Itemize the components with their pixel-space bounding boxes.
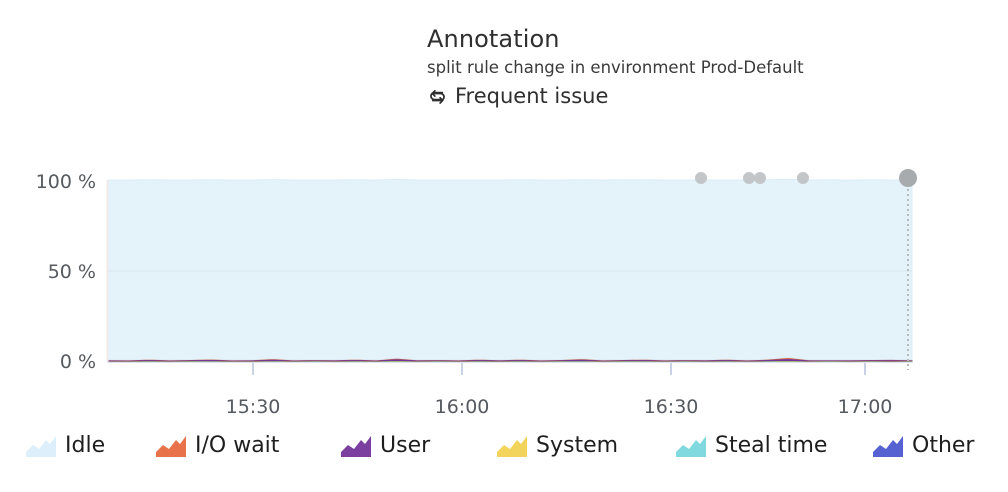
x-tick-label-2: 16:30 (644, 396, 699, 418)
legend-swatch-shape (497, 436, 527, 457)
legend-swatch-shape (873, 436, 903, 457)
legend-label: Steal time (715, 433, 827, 459)
legend-item-steal-time[interactable]: Steal time (676, 424, 827, 468)
legend-label: I/O wait (195, 433, 279, 459)
x-tick-label-3: 17:00 (838, 396, 893, 418)
legend-item-user[interactable]: User (341, 424, 430, 468)
legend-label: Other (912, 433, 974, 459)
selected-annotation-marker[interactable] (899, 169, 917, 187)
plot-area[interactable] (0, 150, 1008, 390)
annotation-marker-dot[interactable] (754, 172, 766, 184)
legend-swatch-icon (676, 435, 706, 457)
legend-swatch-icon (26, 435, 56, 457)
legend-swatch-icon (497, 435, 527, 457)
x-tick-label-1: 16:00 (435, 396, 490, 418)
annotation-tag-label: Frequent issue (455, 83, 608, 109)
repeat-icon (427, 86, 448, 107)
legend-swatch-icon (341, 435, 371, 457)
legend-swatch-shape (676, 436, 706, 457)
x-axis: 15:3016:0016:3017:00 (0, 386, 1008, 420)
legend-item-idle[interactable]: Idle (26, 424, 105, 468)
chart-legend[interactable]: IdleI/O waitUserSystemSteal timeOther (0, 424, 1008, 468)
series-area-idle (108, 179, 912, 360)
legend-swatch-icon (156, 435, 186, 457)
x-tick-label-0: 15:30 (226, 396, 281, 418)
annotation-title: Annotation (427, 24, 947, 54)
cpu-usage-chart[interactable]: 100 % 50 % 0 % 15:3016:0016:3017:00 (0, 150, 1008, 390)
annotation-subtitle: split rule change in environment Prod-De… (427, 56, 947, 80)
legend-swatch-shape (156, 436, 186, 457)
legend-swatch-shape (26, 436, 56, 457)
legend-item-i-o-wait[interactable]: I/O wait (156, 424, 279, 468)
annotation-tag-row: Frequent issue (427, 83, 947, 109)
legend-swatch-shape (341, 436, 371, 457)
legend-swatch-icon (873, 435, 903, 457)
legend-label: User (380, 433, 430, 459)
annotation-marker-dot[interactable] (797, 172, 809, 184)
annotation-marker-dot[interactable] (695, 172, 707, 184)
legend-item-other[interactable]: Other (873, 424, 974, 468)
annotation-marker-dot[interactable] (743, 172, 755, 184)
legend-item-system[interactable]: System (497, 424, 618, 468)
legend-label: Idle (65, 433, 105, 459)
legend-label: System (536, 433, 618, 459)
annotation-tooltip: Annotation split rule change in environm… (427, 24, 947, 109)
